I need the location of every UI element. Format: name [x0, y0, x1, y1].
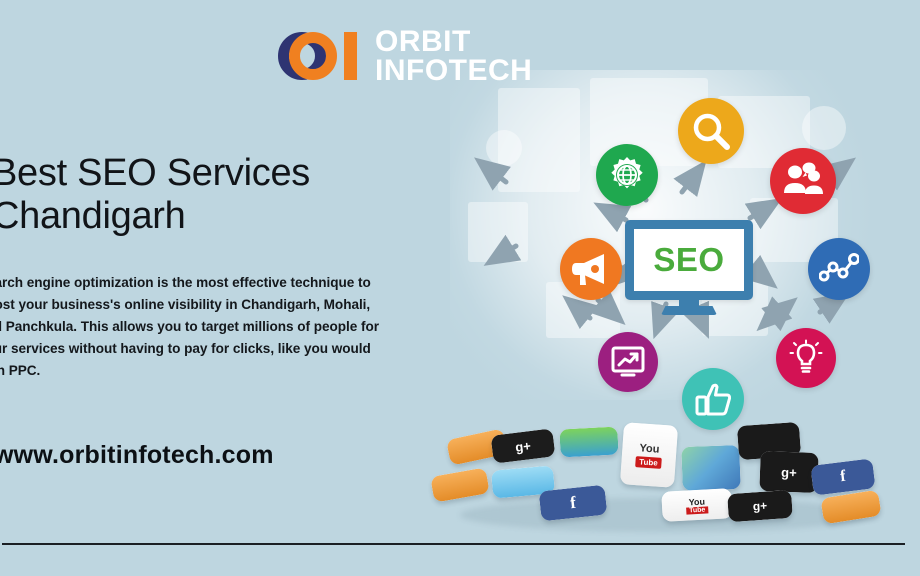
- monitor-screen: SEO: [634, 229, 744, 291]
- tile-gplus-bottom: g+: [727, 490, 793, 522]
- tile-youtube: You Tube: [661, 488, 732, 522]
- description-paragraph: Search engine optimization is the most e…: [0, 272, 393, 382]
- orbit-infotech-logo-mark: [278, 28, 364, 84]
- tile-msn-butterfly: [681, 445, 741, 491]
- social-group-icon: [770, 148, 836, 214]
- magnifier-icon: [678, 98, 744, 164]
- social-media-app-tiles: g+ f You Tube You: [430, 390, 920, 540]
- megaphone-icon: [560, 238, 622, 300]
- brand-name-line1: ORBIT: [375, 28, 532, 57]
- monitor-frame: SEO: [625, 220, 753, 300]
- tile-msn: [559, 427, 618, 458]
- bottom-divider: [2, 543, 905, 545]
- logo-bar-icon: [344, 32, 357, 80]
- tile-facebook-right: f: [810, 458, 875, 495]
- logo-ring-orange-icon: [289, 32, 337, 80]
- seo-label: SEO: [653, 241, 724, 279]
- illustration-backdrop: SEO: [450, 70, 870, 400]
- analytics-node-icon: [808, 238, 870, 300]
- tile-generic-right: [820, 490, 881, 525]
- monitor-base: [661, 306, 717, 315]
- tile-googleplus-dark: g+: [759, 451, 818, 493]
- page-title: Best SEO Services Chandigarh: [0, 152, 422, 239]
- tile-googleplus: g+: [491, 428, 556, 463]
- seo-monitor: SEO: [625, 220, 753, 312]
- seo-service-banner: ORBIT INFOTECH Best SEO Services Chandig…: [0, 0, 920, 576]
- website-url[interactable]: www.orbitinfotech.com: [0, 441, 274, 470]
- tile-generic-left: [430, 467, 490, 502]
- gear-globe-icon: [596, 144, 658, 206]
- lightbulb-icon: [776, 328, 836, 388]
- tile-youtube-upright: You Tube: [620, 422, 678, 488]
- presentation-icon: [598, 332, 658, 392]
- seo-illustration: SEO: [430, 70, 920, 540]
